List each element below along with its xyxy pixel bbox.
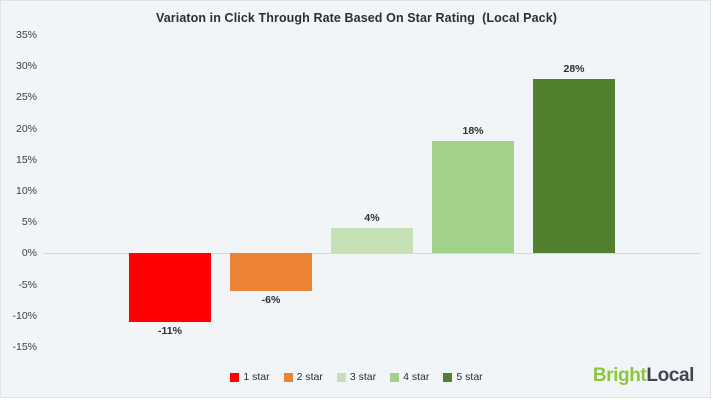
y-axis-tick-label: 30% xyxy=(16,60,37,72)
legend-swatch-icon xyxy=(337,373,346,382)
legend-label: 1 star xyxy=(243,371,269,383)
y-axis-tick-label: 35% xyxy=(16,29,37,41)
legend-label: 4 star xyxy=(403,371,429,383)
brightlocal-logo: BrightLocal xyxy=(593,365,694,387)
bar-1-star[interactable] xyxy=(129,253,211,322)
y-axis-tick-label: 25% xyxy=(16,91,37,103)
y-axis-tick-label: -5% xyxy=(18,279,37,291)
chart-title: Variaton in Click Through Rate Based On … xyxy=(1,11,711,25)
y-axis-tick-label: 10% xyxy=(16,185,37,197)
bar-value-label: 18% xyxy=(432,125,514,137)
bar-3-star[interactable] xyxy=(331,228,413,253)
legend-label: 2 star xyxy=(297,371,323,383)
y-axis-tick-label: 0% xyxy=(22,247,37,259)
legend-item-5-star[interactable]: 5 star xyxy=(443,371,482,383)
bar-value-label: -11% xyxy=(129,325,211,337)
bar-2-star[interactable] xyxy=(230,253,312,290)
legend-label: 3 star xyxy=(350,371,376,383)
legend-swatch-icon xyxy=(230,373,239,382)
y-axis-tick-label: -15% xyxy=(12,341,37,353)
legend-swatch-icon xyxy=(390,373,399,382)
legend-item-2-star[interactable]: 2 star xyxy=(284,371,323,383)
legend-swatch-icon xyxy=(443,373,452,382)
bar-5-star[interactable] xyxy=(533,79,615,254)
bar-value-label: 28% xyxy=(533,63,615,75)
legend-swatch-icon xyxy=(284,373,293,382)
y-axis-tick-label: -10% xyxy=(12,310,37,322)
legend-item-1-star[interactable]: 1 star xyxy=(230,371,269,383)
bar-4-star[interactable] xyxy=(432,141,514,253)
y-axis-tick-label: 5% xyxy=(22,216,37,228)
legend-item-3-star[interactable]: 3 star xyxy=(337,371,376,383)
logo-bright-text: Bright xyxy=(593,365,647,386)
logo-local-text: Local xyxy=(646,365,694,386)
plot-area: 35%30%25%20%15%10%5%0%-5%-10%-15% -11%-6… xyxy=(43,35,703,347)
legend-label: 5 star xyxy=(456,371,482,383)
legend-item-4-star[interactable]: 4 star xyxy=(390,371,429,383)
y-axis-tick-label: 20% xyxy=(16,123,37,135)
y-axis-tick-label: 15% xyxy=(16,154,37,166)
bar-value-label: -6% xyxy=(230,294,312,306)
bar-value-label: 4% xyxy=(331,212,413,224)
chart-card: Variaton in Click Through Rate Based On … xyxy=(0,0,711,398)
